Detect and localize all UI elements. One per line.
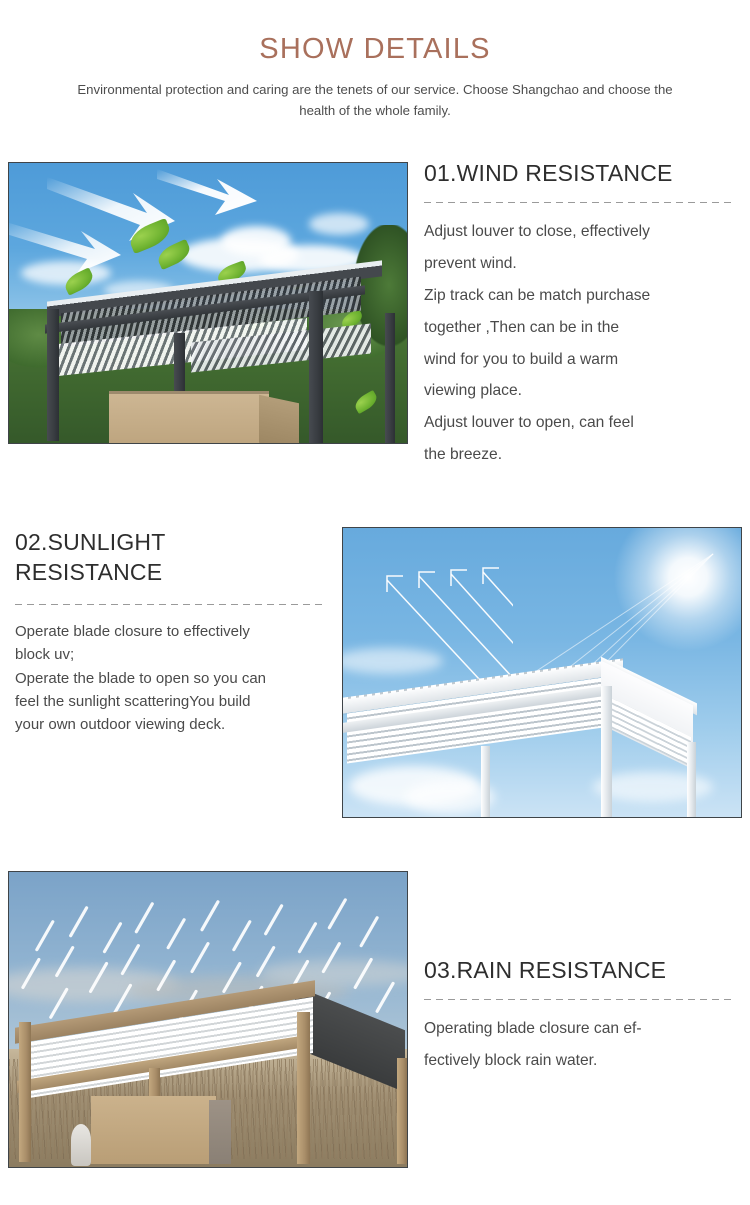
- pergola-post: [297, 1012, 310, 1164]
- pergola-post: [385, 313, 395, 443]
- body-line: Adjust louver to open, can feel: [424, 407, 736, 439]
- sunlight-resistance-text-block: 02.SUNLIGHT RESISTANCE Operate blade clo…: [15, 527, 325, 737]
- wind-arrow-icon: [157, 167, 265, 217]
- body-line: the breeze.: [424, 439, 736, 471]
- body-line: your own outdoor viewing deck.: [15, 713, 325, 736]
- body-line: feel the sunlight scatteringYou build: [15, 690, 325, 713]
- body-line: Operate blade closure to effectively: [15, 620, 325, 643]
- body-line: Adjust louver to close, effectively: [424, 216, 736, 248]
- body-line: Operate the blade to open so you can: [15, 667, 325, 690]
- body-line: Operating blade closure can ef-: [424, 1013, 736, 1045]
- pergola-post: [19, 1022, 31, 1162]
- pergola-post: [687, 742, 696, 817]
- stone-wall-side: [209, 1100, 231, 1164]
- section-body-rain: Operating blade closure can ef- fectivel…: [424, 1000, 736, 1077]
- pergola-post: [309, 291, 323, 443]
- body-line: together ,Then can be in the: [424, 312, 736, 344]
- page-header: SHOW DETAILS Environmental protection an…: [0, 0, 750, 122]
- section-heading-sunlight: 02.SUNLIGHT RESISTANCE: [15, 527, 260, 588]
- rain-resistance-text-block: 03.RAIN RESISTANCE Operating blade closu…: [424, 955, 736, 1077]
- body-line: fectively block rain water.: [424, 1045, 736, 1077]
- rain-resistance-image: [8, 871, 408, 1168]
- section-heading-wind: 01.WIND RESISTANCE: [424, 158, 736, 188]
- outdoor-counter: [109, 391, 269, 443]
- pergola-post: [601, 686, 612, 817]
- body-line: wind for you to build a warm: [424, 344, 736, 376]
- body-line: viewing place.: [424, 375, 736, 407]
- body-line: block uv;: [15, 643, 325, 666]
- pergola-post: [47, 309, 59, 441]
- sunlight-resistance-image: [342, 527, 742, 818]
- section-body-wind: Adjust louver to close, effectively prev…: [424, 203, 736, 470]
- section-heading-rain: 03.RAIN RESISTANCE: [424, 955, 736, 985]
- wind-resistance-text-block: 01.WIND RESISTANCE Adjust louver to clos…: [424, 158, 736, 471]
- body-line: Zip track can be match purchase: [424, 280, 736, 312]
- outdoor-counter-side: [259, 395, 299, 443]
- section-body-sunlight: Operate blade closure to effectively blo…: [15, 605, 325, 737]
- wind-resistance-image: [8, 162, 408, 444]
- page-title: SHOW DETAILS: [0, 0, 750, 66]
- pergola-post: [481, 746, 490, 817]
- page-subtitle: Environmental protection and caring are …: [75, 66, 675, 122]
- body-line: prevent wind.: [424, 248, 736, 280]
- garden-statue: [71, 1124, 91, 1166]
- stone-wall: [91, 1096, 216, 1164]
- sun-icon: [613, 528, 741, 652]
- pergola-post: [397, 1058, 407, 1164]
